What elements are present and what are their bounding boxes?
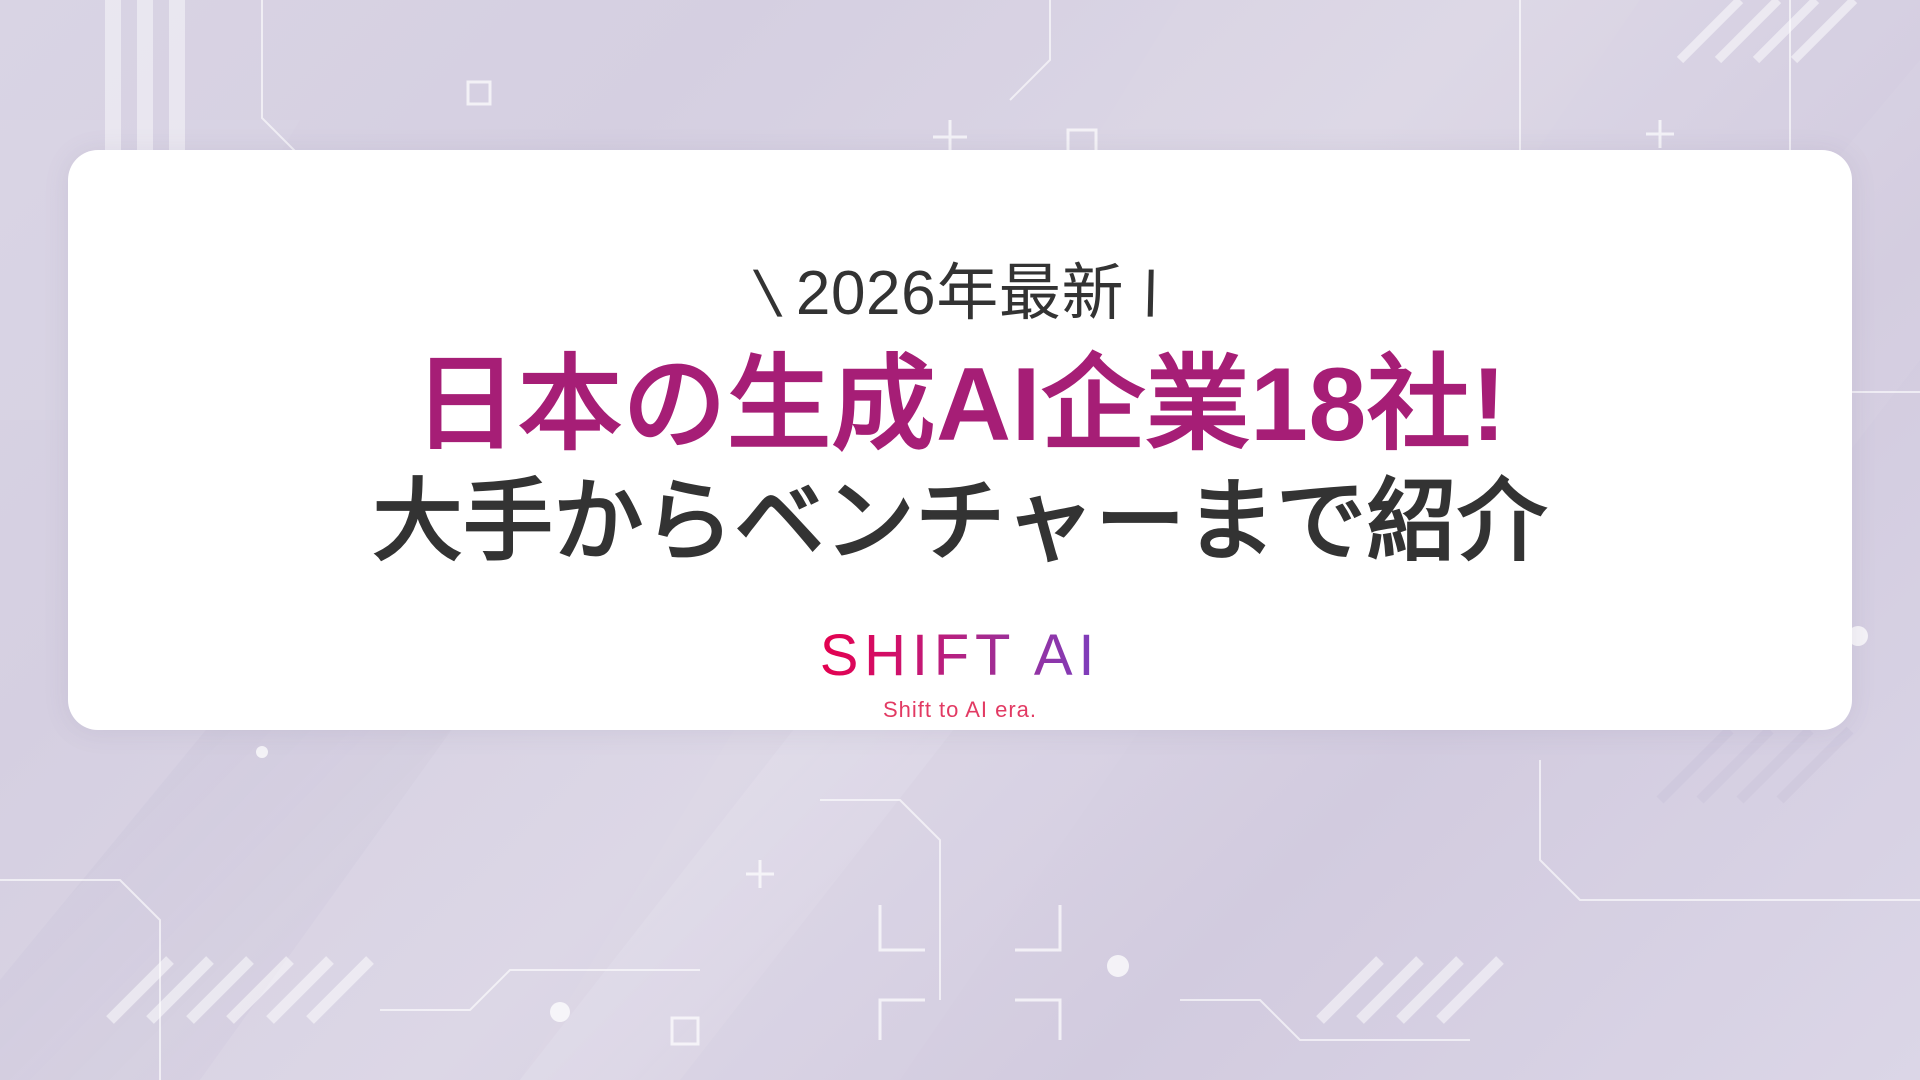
- headline-sub: 大手からベンチャーまで紹介: [373, 474, 1548, 571]
- brand-logo: SHIFT AI Shift to AI era.: [820, 627, 1101, 721]
- eyebrow-slash-right-icon: /: [1134, 262, 1168, 326]
- eyebrow-text: 2026年最新: [796, 263, 1124, 325]
- content-card: \ 2026年最新 / 日本の生成AI企業18社! 大手からベンチャーまで紹介 …: [68, 150, 1852, 730]
- eyebrow-slash-left-icon: \: [751, 262, 785, 326]
- logo-tagline: Shift to AI era.: [883, 699, 1037, 721]
- eyebrow-line: \ 2026年最新 /: [759, 262, 1160, 326]
- slide-canvas: \ 2026年最新 / 日本の生成AI企業18社! 大手からベンチャーまで紹介 …: [0, 0, 1920, 1080]
- headline-main: 日本の生成AI企業18社!: [413, 350, 1506, 460]
- card-inner: \ 2026年最新 / 日本の生成AI企業18社! 大手からベンチャーまで紹介 …: [68, 150, 1852, 721]
- logo-wordmark: SHIFT AI: [820, 627, 1101, 685]
